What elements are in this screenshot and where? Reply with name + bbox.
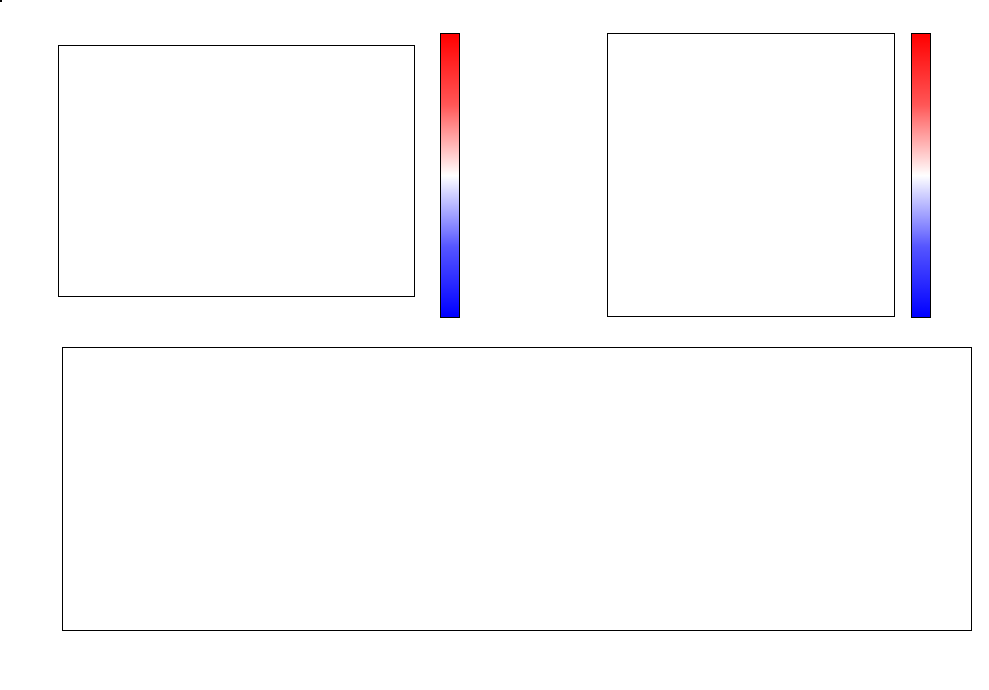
figure-canvas	[0, 0, 989, 690]
colorbar-left[interactable]	[440, 33, 460, 318]
colorbar-right[interactable]	[911, 33, 931, 318]
colorbar-right-gradient	[912, 34, 930, 317]
colorbar-left-gradient	[441, 34, 459, 317]
roi-timeseries-plot[interactable]	[62, 347, 972, 631]
ic1-weights-image[interactable]	[58, 45, 415, 297]
ic1-weights-zoom-image[interactable]	[607, 33, 895, 317]
red-roi-box	[0, 0, 2, 2]
